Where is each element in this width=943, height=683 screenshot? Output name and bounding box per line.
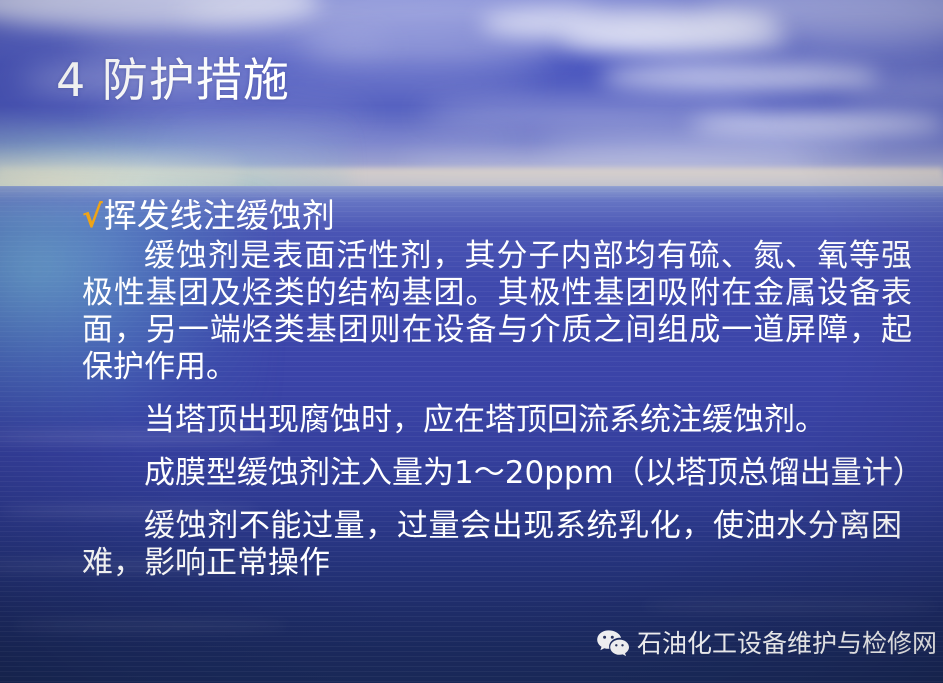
body-paragraph: 缓蚀剂不能过量，过量会出现系统乳化，使油水分离困难，影响正常操作 [82,508,902,582]
checkmark-icon: √ [82,197,103,237]
slide-content: 4 防护措施 √挥发线注缓蚀剂 缓蚀剂是表面活性剂，其分子内部均有硫、氮、氧等强… [0,0,943,683]
wechat-icon [596,629,630,659]
watermark: 石油化工设备维护与检修网 [596,629,937,659]
body-paragraph: 当塔顶出现腐蚀时，应在塔顶回流系统注缓蚀剂。 [82,402,912,439]
body-paragraph: 缓蚀剂是表面活性剂，其分子内部均有硫、氮、氧等强极性基团及烃类的结构基团。其极性… [82,238,912,386]
presentation-slide: 4 防护措施 √挥发线注缓蚀剂 缓蚀剂是表面活性剂，其分子内部均有硫、氮、氧等强… [0,0,943,683]
slide-body: √挥发线注缓蚀剂 缓蚀剂是表面活性剂，其分子内部均有硫、氮、氧等强极性基团及烃类… [82,196,942,582]
watermark-label: 石油化工设备维护与检修网 [637,629,937,659]
bullet-heading-label: 挥发线注缓蚀剂 [104,196,335,235]
body-paragraph: 成膜型缓蚀剂注入量为1～20ppm（以塔顶总馏出量计） [82,455,922,492]
bullet-heading: √挥发线注缓蚀剂 [82,196,942,237]
page-title: 4 防护措施 [56,56,290,104]
